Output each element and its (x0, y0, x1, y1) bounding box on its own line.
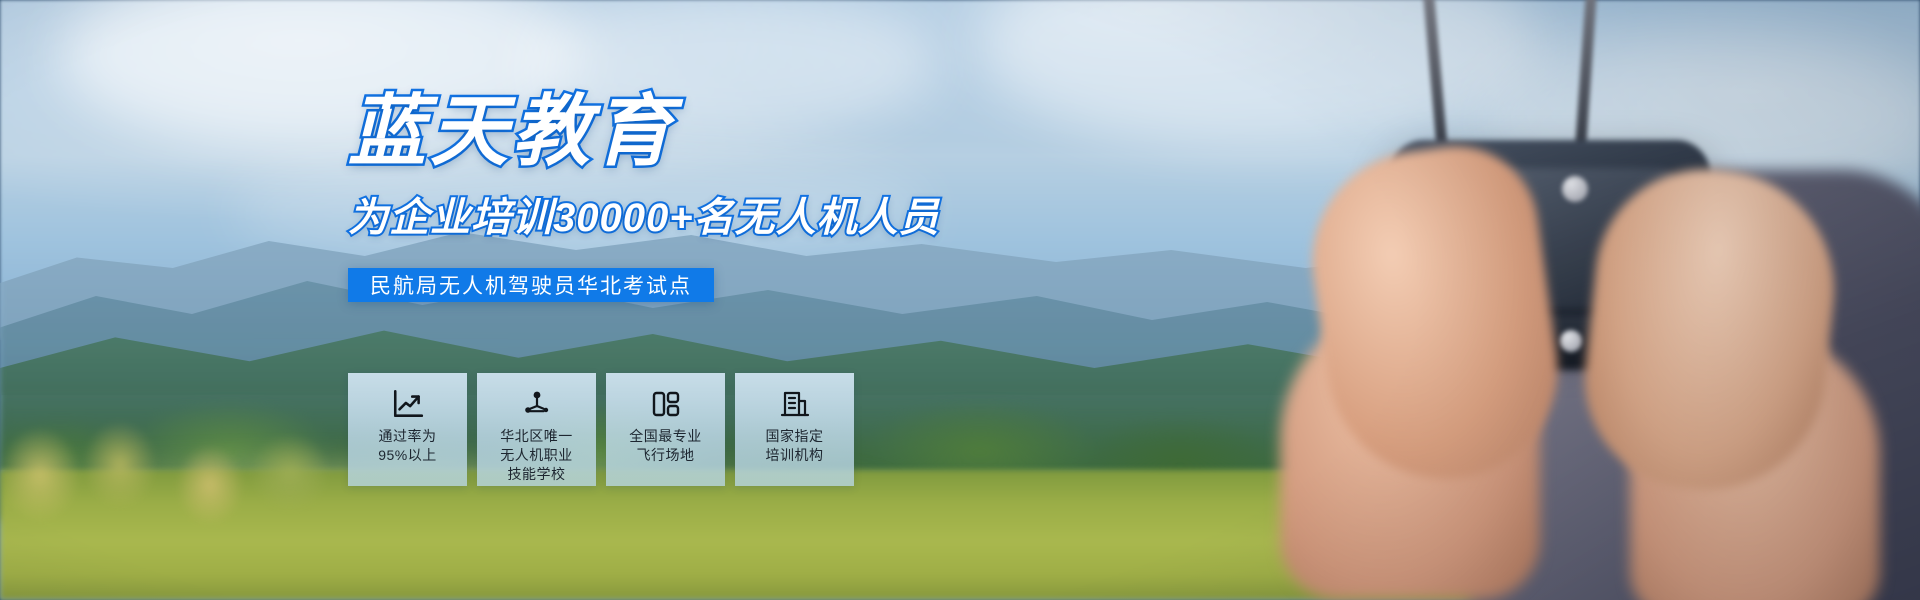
feature-card-line: 技能学校 (500, 465, 573, 484)
feature-card-line: 全国最专业 (629, 427, 702, 446)
feature-card-pass-rate[interactable]: 通过率为 95%以上 (348, 373, 467, 486)
feature-card-vocational-school[interactable]: 华北区唯一 无人机职业 技能学校 (477, 373, 596, 486)
banner-subtitle: 为企业培训30000+名无人机人员 (348, 196, 940, 240)
feature-card-line: 华北区唯一 (500, 427, 573, 446)
feature-card-line: 无人机职业 (500, 446, 573, 465)
feature-card-flight-field[interactable]: 全国最专业 飞行场地 (606, 373, 725, 486)
hero-banner: 蓝天教育 为企业培训30000+名无人机人员 民航局无人机驾驶员华北考试点 通过… (0, 0, 1920, 600)
feature-card-line: 培训机构 (766, 446, 824, 465)
feature-card-line: 95%以上 (378, 446, 437, 465)
feature-card-text: 全国最专业 飞行场地 (629, 427, 702, 465)
feature-card-line: 飞行场地 (629, 446, 702, 465)
feature-card-text: 通过率为 95%以上 (378, 427, 437, 465)
building-icon (779, 387, 811, 421)
chart-trend-up-icon (391, 387, 425, 421)
network-nodes-icon (521, 387, 553, 421)
banner-content: 蓝天教育 为企业培训30000+名无人机人员 民航局无人机驾驶员华北考试点 通过… (0, 0, 1920, 600)
feature-cards: 通过率为 95%以上 华北区唯一 无人 (348, 373, 854, 486)
banner-title: 蓝天教育 (348, 92, 676, 170)
dual-panel-icon (650, 387, 682, 421)
feature-card-national-institution[interactable]: 国家指定 培训机构 (735, 373, 854, 486)
feature-card-text: 华北区唯一 无人机职业 技能学校 (500, 427, 573, 484)
feature-card-text: 国家指定 培训机构 (766, 427, 824, 465)
feature-card-line: 国家指定 (766, 427, 824, 446)
certification-badge: 民航局无人机驾驶员华北考试点 (348, 268, 714, 302)
feature-card-line: 通过率为 (378, 427, 437, 446)
